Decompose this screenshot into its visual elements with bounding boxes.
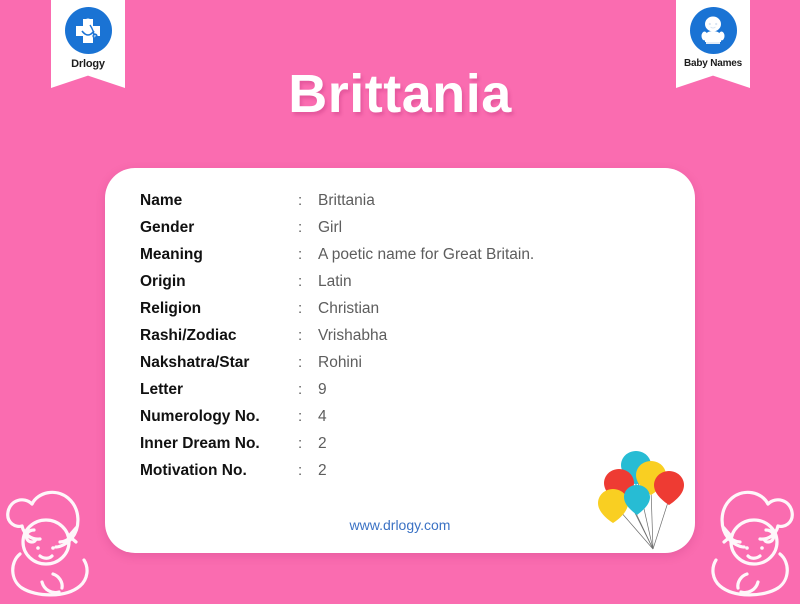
detail-separator: : (298, 327, 318, 344)
detail-label: Numerology No. (140, 408, 298, 426)
detail-label: Rashi/Zodiac (140, 327, 298, 345)
detail-value: 2 (318, 435, 327, 453)
detail-separator: : (298, 462, 318, 479)
detail-value: Girl (318, 219, 342, 237)
detail-value: 9 (318, 381, 327, 399)
detail-value: Rohini (318, 354, 362, 372)
svg-text:P: P (94, 33, 97, 38)
detail-separator: : (298, 354, 318, 371)
name-details-card: Name : Brittania Gender : Girl Meaning :… (105, 168, 695, 553)
detail-separator: : (298, 381, 318, 398)
detail-label: Inner Dream No. (140, 435, 298, 453)
detail-row: Gender : Girl (140, 219, 660, 246)
detail-row: Religion : Christian (140, 300, 660, 327)
detail-value: Christian (318, 300, 379, 318)
detail-label: Meaning (140, 246, 298, 264)
detail-row: Name : Brittania (140, 192, 660, 219)
detail-row: Inner Dream No. : 2 (140, 435, 660, 462)
detail-row: Rashi/Zodiac : Vrishabha (140, 327, 660, 354)
detail-row: Meaning : A poetic name for Great Britai… (140, 246, 660, 273)
detail-row: Nakshatra/Star : Rohini (140, 354, 660, 381)
detail-label: Gender (140, 219, 298, 237)
baby-names-logo-circle (690, 7, 737, 54)
detail-separator: : (298, 219, 318, 236)
detail-value: Brittania (318, 192, 375, 210)
detail-value: Vrishabha (318, 327, 387, 345)
detail-separator: : (298, 192, 318, 209)
detail-label: Nakshatra/Star (140, 354, 298, 372)
drlogy-logo-circle: P (65, 7, 112, 54)
detail-row: Numerology No. : 4 (140, 408, 660, 435)
detail-label: Name (140, 192, 298, 210)
detail-separator: : (298, 435, 318, 452)
detail-row: Origin : Latin (140, 273, 660, 300)
balloons-icon (589, 437, 695, 553)
doctor-cross-icon: P (68, 11, 108, 51)
detail-row: Motivation No. : 2 (140, 462, 660, 489)
detail-separator: : (298, 246, 318, 263)
detail-separator: : (298, 273, 318, 290)
mother-baby-icon-right (694, 478, 800, 604)
detail-row: Letter : 9 (140, 381, 660, 408)
detail-label: Motivation No. (140, 462, 298, 480)
detail-label: Religion (140, 300, 298, 318)
detail-value: A poetic name for Great Britain. (318, 246, 534, 264)
site-url[interactable]: www.drlogy.com (105, 517, 695, 533)
detail-value: Latin (318, 273, 352, 291)
detail-separator: : (298, 300, 318, 317)
detail-label: Letter (140, 381, 298, 399)
mother-baby-icon-left (0, 478, 106, 604)
detail-separator: : (298, 408, 318, 425)
baby-icon (693, 11, 733, 51)
detail-value: 4 (318, 408, 327, 426)
page-title: Brittania (0, 63, 800, 125)
detail-value: 2 (318, 462, 327, 480)
detail-label: Origin (140, 273, 298, 291)
detail-list: Name : Brittania Gender : Girl Meaning :… (140, 192, 660, 489)
